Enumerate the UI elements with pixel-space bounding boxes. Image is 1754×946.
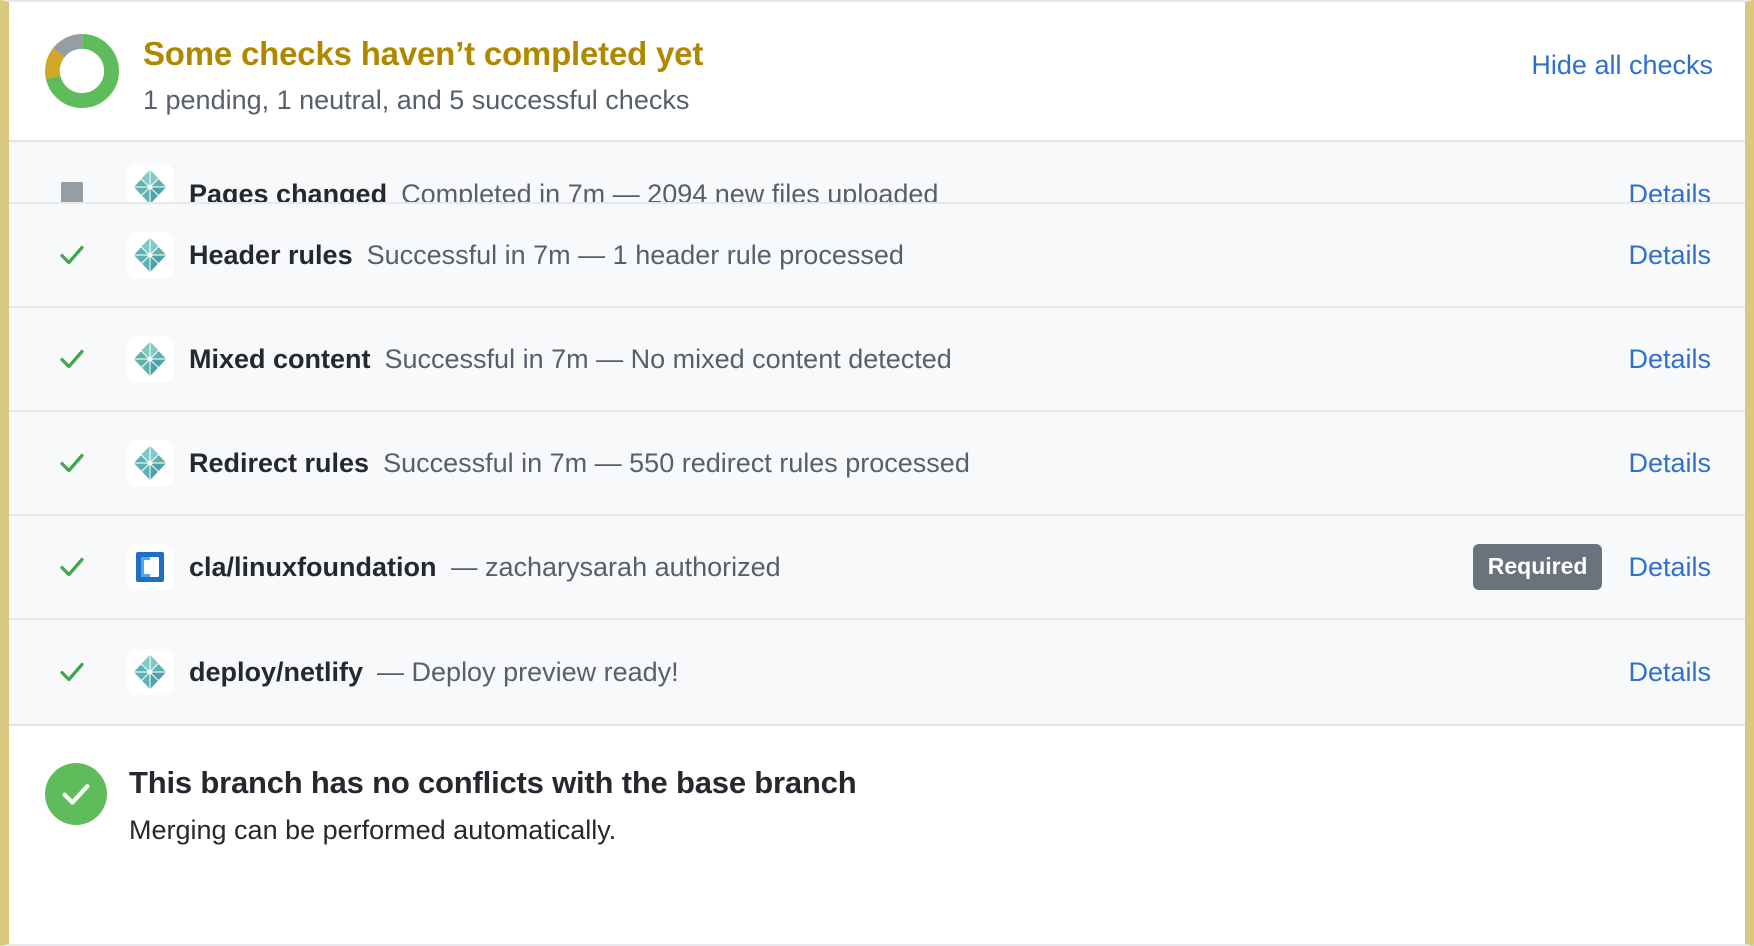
hide-all-checks-link[interactable]: Hide all checks (1531, 50, 1713, 81)
checks-status-summary: 1 pending, 1 neutral, and 5 successful c… (143, 83, 1711, 118)
check-row[interactable]: Mixed content Successful in 7m — No mixe… (9, 308, 1745, 412)
check-row[interactable]: cla/linuxfoundation — zacharysarah autho… (9, 516, 1745, 620)
status-success-icon (55, 446, 89, 480)
check-row[interactable]: Header rules Successful in 7m — 1 header… (9, 204, 1745, 308)
netlify-diamond-icon (127, 649, 173, 695)
check-description: Successful in 7m — 1 header rule process… (367, 240, 1629, 271)
check-row[interactable]: Redirect rules Successful in 7m — 550 re… (9, 412, 1745, 516)
required-badge: Required (1473, 544, 1603, 590)
check-description: Successful in 7m — No mixed content dete… (385, 344, 1629, 375)
check-description: Completed in 7m — 2094 new files uploade… (401, 179, 1628, 204)
check-details-link[interactable]: Details (1628, 552, 1711, 583)
check-name: deploy/netlify (189, 657, 363, 688)
checks-header: Some checks haven’t completed yet 1 pend… (9, 2, 1745, 140)
check-description: — Deploy preview ready! (377, 657, 1628, 688)
checks-status-title: Some checks haven’t completed yet (143, 34, 1711, 74)
netlify-diamond-icon (127, 164, 173, 204)
status-success-icon (55, 655, 89, 689)
netlify-diamond-icon (127, 232, 173, 278)
check-details-link[interactable]: Details (1628, 240, 1711, 271)
merge-status-section: This branch has no conflicts with the ba… (9, 724, 1745, 887)
check-row[interactable]: deploy/netlify — Deploy preview ready! D… (9, 620, 1745, 724)
checks-list: Pages changed Completed in 7m — 2094 new… (9, 140, 1745, 724)
netlify-diamond-icon (127, 336, 173, 382)
status-success-icon (55, 238, 89, 272)
check-name: Pages changed (189, 179, 387, 204)
netlify-diamond-icon (127, 440, 173, 486)
check-name: cla/linuxfoundation (189, 552, 437, 583)
status-neutral-icon (55, 176, 89, 204)
checks-header-text: Some checks haven’t completed yet 1 pend… (143, 30, 1711, 118)
check-name: Redirect rules (189, 448, 369, 479)
donut-svg (43, 32, 121, 110)
check-details-link[interactable]: Details (1628, 448, 1711, 479)
pr-merge-status-box: Some checks haven’t completed yet 1 pend… (0, 0, 1754, 946)
merge-status-title: This branch has no conflicts with the ba… (129, 764, 1711, 801)
check-description: Successful in 7m — 550 redirect rules pr… (383, 448, 1628, 479)
status-success-icon (55, 550, 89, 584)
cla-linuxfoundation-icon (127, 544, 173, 590)
merge-status-subtitle: Merging can be performed automatically. (129, 813, 1711, 848)
check-details-link[interactable]: Details (1628, 344, 1711, 375)
merge-status-text: This branch has no conflicts with the ba… (129, 760, 1711, 847)
check-name: Header rules (189, 240, 353, 271)
check-details-link[interactable]: Details (1628, 657, 1711, 688)
check-name: Mixed content (189, 344, 371, 375)
checks-donut-chart (43, 32, 121, 110)
check-row[interactable]: Pages changed Completed in 7m — 2094 new… (9, 142, 1745, 204)
check-circle-icon (45, 763, 107, 825)
check-description: — zacharysarah authorized (451, 552, 1473, 583)
status-success-icon (55, 342, 89, 376)
check-details-link[interactable]: Details (1628, 179, 1711, 204)
